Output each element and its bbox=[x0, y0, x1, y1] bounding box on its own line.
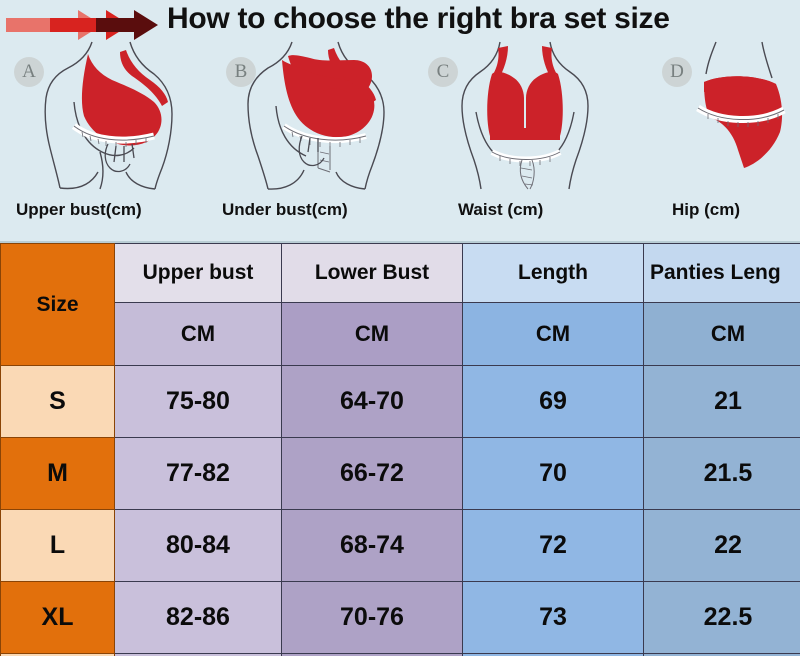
header-lower-bust: Lower Bust bbox=[282, 244, 463, 303]
cell-panties-length: 22 bbox=[644, 510, 800, 582]
cell-size: M bbox=[1, 438, 115, 510]
size-chart-page: How to choose the right bra set size A bbox=[0, 0, 800, 656]
cell-panties-length: 22.5 bbox=[644, 582, 800, 654]
cell-panties-length: 21 bbox=[644, 366, 800, 438]
table-row: M 77-82 66-72 70 21.5 bbox=[1, 438, 800, 510]
cell-size: L bbox=[1, 510, 115, 582]
header-length: Length bbox=[463, 244, 644, 303]
cell-lower-bust: 64-70 bbox=[282, 366, 463, 438]
size-table: Size Upper bust Lower Bust Length Pantie… bbox=[0, 243, 800, 656]
caption-under-bust: Under bust(cm) bbox=[222, 200, 348, 220]
figure-waist bbox=[452, 40, 602, 190]
page-title: How to choose the right bra set size bbox=[167, 2, 670, 36]
table-header-row-units: CM CM CM CM bbox=[1, 303, 800, 366]
header-size: Size bbox=[1, 244, 115, 366]
cell-lower-bust: 68-74 bbox=[282, 510, 463, 582]
figure-under-bust bbox=[226, 40, 406, 190]
cell-length: 70 bbox=[463, 438, 644, 510]
header-panties-length: Panties Leng bbox=[644, 244, 800, 303]
figure-hip bbox=[660, 40, 800, 190]
cell-length: 72 bbox=[463, 510, 644, 582]
cell-size: S bbox=[1, 366, 115, 438]
cell-length: 73 bbox=[463, 582, 644, 654]
cell-upper-bust: 77-82 bbox=[115, 438, 282, 510]
unit-lower-bust: CM bbox=[282, 303, 463, 366]
table-header-row-names: Size Upper bust Lower Bust Length Pantie… bbox=[1, 244, 800, 303]
unit-length: CM bbox=[463, 303, 644, 366]
cell-length: 69 bbox=[463, 366, 644, 438]
unit-panties-length: CM bbox=[644, 303, 800, 366]
cell-size: XL bbox=[1, 582, 115, 654]
cell-upper-bust: 75-80 bbox=[115, 366, 282, 438]
size-table-container: Size Upper bust Lower Bust Length Pantie… bbox=[0, 243, 800, 656]
cell-panties-length: 21.5 bbox=[644, 438, 800, 510]
caption-waist: Waist (cm) bbox=[458, 200, 543, 220]
table-row: S 75-80 64-70 69 21 bbox=[1, 366, 800, 438]
cell-upper-bust: 82-86 bbox=[115, 582, 282, 654]
arrow-group-icon bbox=[6, 9, 158, 41]
figure-upper-bust bbox=[30, 40, 200, 190]
unit-upper-bust: CM bbox=[115, 303, 282, 366]
illustration-panel: How to choose the right bra set size A bbox=[0, 0, 800, 243]
caption-upper-bust: Upper bust(cm) bbox=[16, 200, 142, 220]
header-upper-bust: Upper bust bbox=[115, 244, 282, 303]
table-row: XL 82-86 70-76 73 22.5 bbox=[1, 582, 800, 654]
cell-lower-bust: 70-76 bbox=[282, 582, 463, 654]
cell-lower-bust: 66-72 bbox=[282, 438, 463, 510]
table-row: L 80-84 68-74 72 22 bbox=[1, 510, 800, 582]
cell-upper-bust: 80-84 bbox=[115, 510, 282, 582]
caption-hip: Hip (cm) bbox=[672, 200, 740, 220]
